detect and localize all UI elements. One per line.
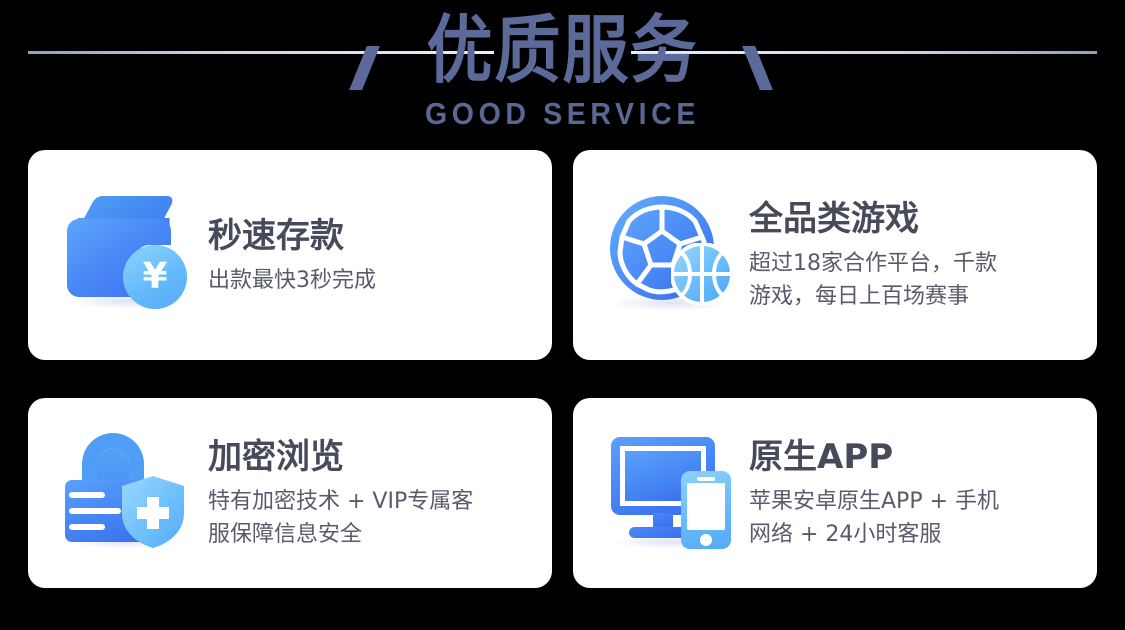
page-subtitle: GOOD SERVICE — [45, 96, 1080, 132]
service-card-grid: ¥ 秒速存款 出款最快3秒完成 — [28, 150, 1097, 588]
shield-plus-icon — [120, 475, 186, 549]
phone-screen-icon — [687, 483, 725, 530]
monitor-phone-icon — [607, 427, 739, 559]
service-card-text: 秒速存款 出款最快3秒完成 — [208, 214, 552, 297]
service-card-deposit[interactable]: ¥ 秒速存款 出款最快3秒完成 — [28, 150, 552, 360]
wallet-yen-icon: ¥ — [62, 189, 194, 321]
service-card-text: 原生APP 苹果安卓原生APP + 手机 网络 + 24小时客服 — [749, 435, 1097, 551]
service-card-subtitle: 超过18家合作平台，千款 游戏，每日上百场赛事 — [749, 247, 1097, 313]
page-title: 优质服务 — [0, 6, 1125, 96]
good-service-banner: 优质服务 GOOD SERVICE ¥ 秒速存款 出款最快3秒完成 — [0, 0, 1125, 630]
service-card-games[interactable]: 全品类游戏 超过18家合作平台，千款 游戏，每日上百场赛事 — [573, 150, 1097, 360]
service-card-encryption[interactable]: 加密浏览 特有加密技术 + VIP专属客 服保障信息安全 — [28, 398, 552, 588]
service-card-text: 全品类游戏 超过18家合作平台，千款 游戏，每日上百场赛事 — [749, 197, 1097, 313]
lock-line — [69, 492, 105, 498]
lock-shield-icon — [62, 427, 194, 559]
yen-symbol: ¥ — [142, 259, 167, 295]
service-card-subtitle: 特有加密技术 + VIP专属客 服保障信息安全 — [208, 485, 552, 551]
phone-speaker-icon — [697, 477, 715, 481]
soccer-basketball-icon — [607, 189, 739, 321]
lock-line — [69, 524, 105, 530]
service-card-title: 全品类游戏 — [749, 197, 1097, 241]
service-card-subtitle: 苹果安卓原生APP + 手机 网络 + 24小时客服 — [749, 485, 1097, 551]
service-card-native-app[interactable]: 原生APP 苹果安卓原生APP + 手机 网络 + 24小时客服 — [573, 398, 1097, 588]
yen-coin-icon: ¥ — [123, 245, 187, 309]
basketball-icon — [671, 243, 733, 305]
service-card-title: 加密浏览 — [208, 435, 552, 479]
service-card-title: 原生APP — [749, 435, 1097, 479]
service-card-text: 加密浏览 特有加密技术 + VIP专属客 服保障信息安全 — [208, 435, 552, 551]
phone-home-button-icon — [700, 534, 712, 546]
service-card-subtitle: 出款最快3秒完成 — [208, 264, 552, 297]
banner-header: 优质服务 GOOD SERVICE — [0, 0, 1125, 142]
lock-line — [69, 508, 121, 514]
service-card-title: 秒速存款 — [208, 214, 552, 258]
